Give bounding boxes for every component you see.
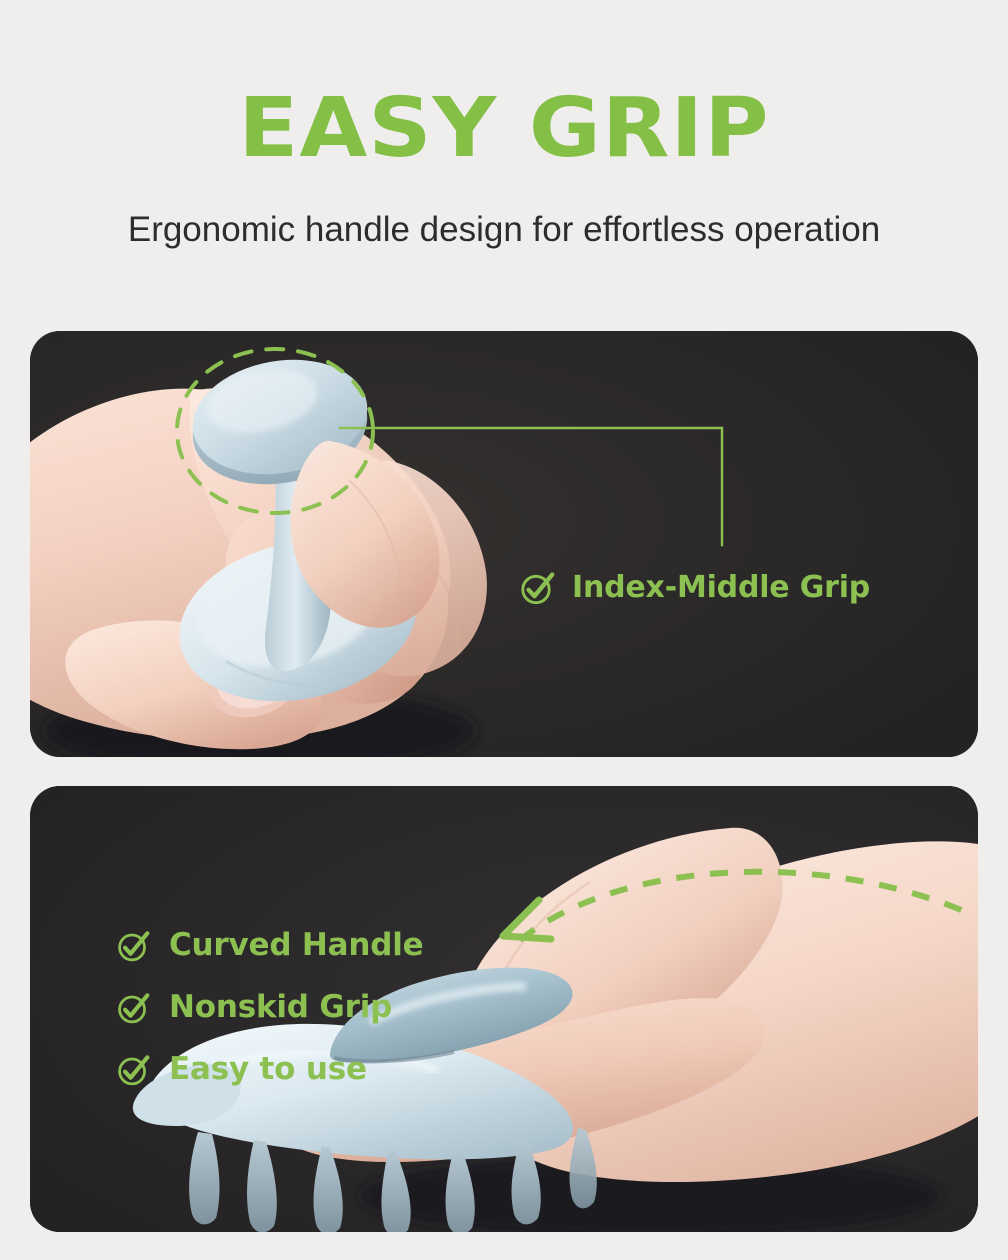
check-circle-icon	[116, 991, 150, 1025]
page-subtitle: Ergonomic handle design for effortless o…	[0, 208, 1008, 252]
feature-item-curved-handle: Curved Handle	[116, 928, 424, 963]
page-title: EASY GRIP	[0, 86, 1008, 172]
feature-label: Curved Handle	[169, 928, 424, 963]
header-section: EASY GRIP Ergonomic handle design for ef…	[0, 0, 1008, 331]
product-photo-index-middle-grip	[30, 331, 978, 757]
check-circle-icon	[519, 570, 555, 606]
check-circle-icon	[116, 929, 150, 963]
feature-label: Nonskid Grip	[169, 990, 392, 1025]
feature-label: Easy to use	[169, 1052, 367, 1087]
feature-panel-grip	[30, 331, 978, 757]
check-circle-icon	[116, 1053, 150, 1087]
feature-list: Curved Handle Nonskid Grip Easy to use	[116, 928, 424, 1087]
callout-label: Index-Middle Grip	[572, 571, 870, 605]
feature-item-nonskid-grip: Nonskid Grip	[116, 990, 424, 1025]
callout-index-middle-grip: Index-Middle Grip	[519, 570, 870, 606]
feature-item-easy-to-use: Easy to use	[116, 1052, 424, 1087]
